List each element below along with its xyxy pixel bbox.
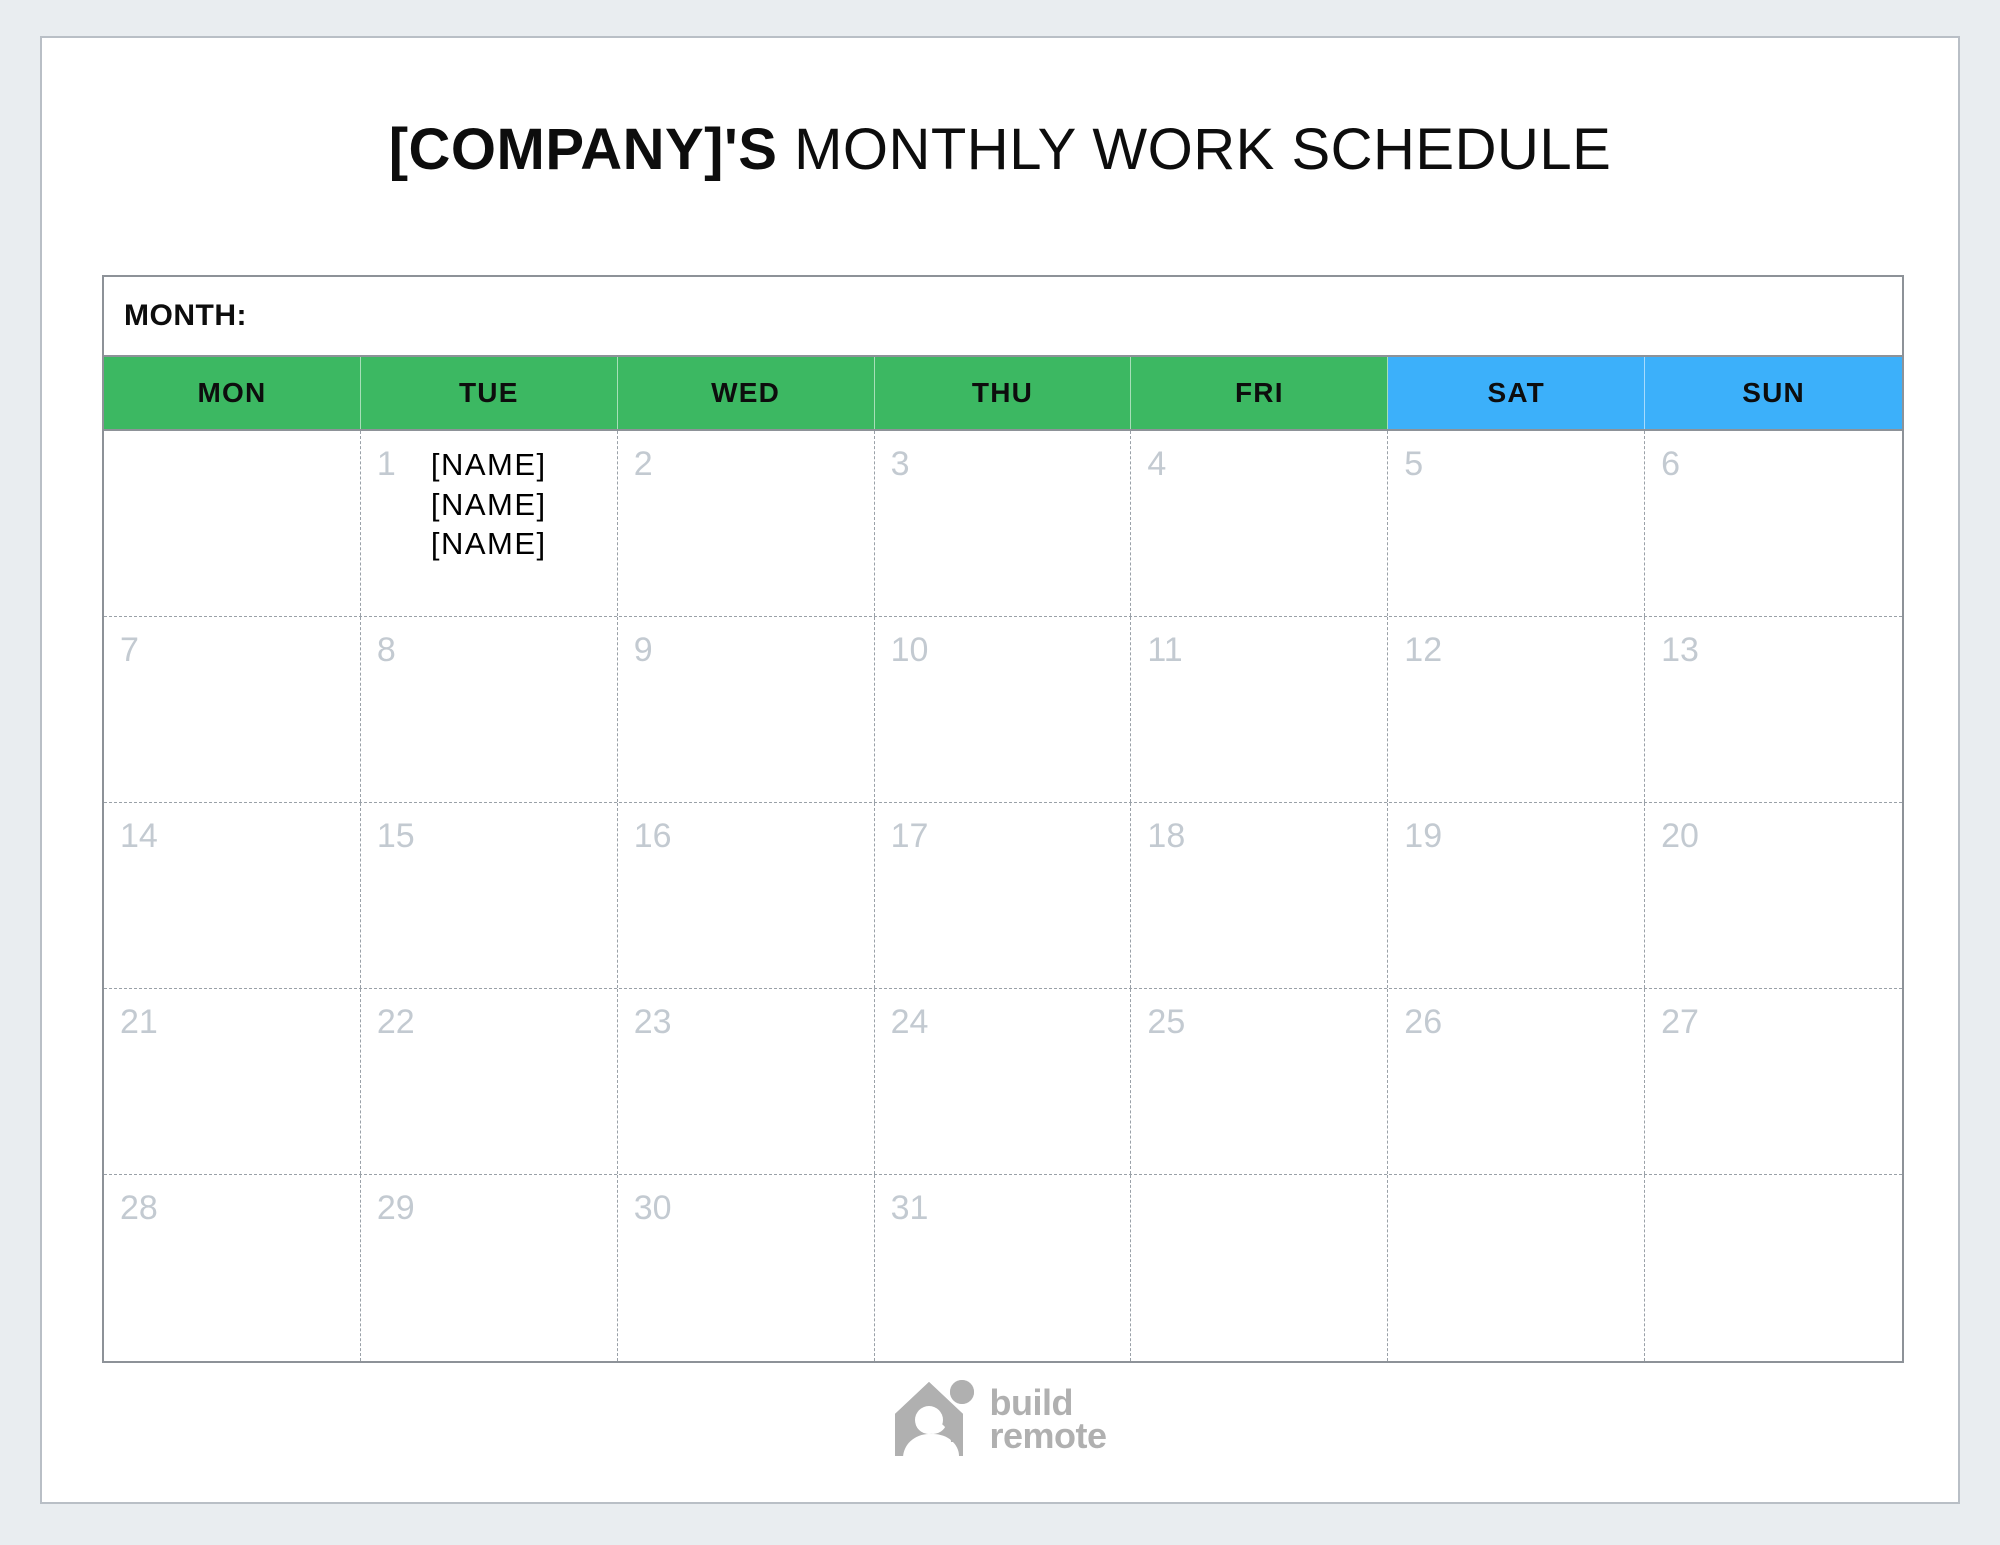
calendar-day-cell[interactable]: 5 xyxy=(1388,431,1645,616)
day-number: 7 xyxy=(120,631,150,669)
day-number: 14 xyxy=(120,817,158,855)
calendar-day-cell[interactable]: 14 xyxy=(104,803,361,988)
calendar-day-cell[interactable]: 17 xyxy=(875,803,1132,988)
day-number: 20 xyxy=(1661,817,1699,855)
day-number: 16 xyxy=(634,817,672,855)
buildremote-logo: build remote xyxy=(42,1380,1958,1458)
calendar-day-cell[interactable]: 25 xyxy=(1131,989,1388,1174)
day-header-label: THU xyxy=(972,377,1033,409)
day-number: 23 xyxy=(634,1003,672,1041)
day-number: 29 xyxy=(377,1189,415,1227)
month-label: MONTH: xyxy=(124,299,247,333)
page-canvas: [COMPANY]'S MONTHLY WORK SCHEDULE MONTH:… xyxy=(40,36,1960,1504)
day-number: 26 xyxy=(1404,1003,1442,1041)
day-header-sun: SUN xyxy=(1645,357,1902,429)
calendar-day-cell[interactable]: 9 xyxy=(618,617,875,802)
calendar-day-cell[interactable]: 1[NAME][NAME][NAME] xyxy=(361,431,618,616)
day-entry[interactable]: [NAME] xyxy=(431,485,547,525)
day-number: 11 xyxy=(1147,631,1182,669)
calendar-day-cell[interactable]: 18 xyxy=(1131,803,1388,988)
page-title: [COMPANY]'S MONTHLY WORK SCHEDULE xyxy=(42,120,1958,181)
calendar-day-cell[interactable]: 8 xyxy=(361,617,618,802)
day-header-mon: MON xyxy=(104,357,361,429)
page-title-company: [COMPANY]'S xyxy=(389,117,778,182)
calendar-day-cell[interactable]: 28 xyxy=(104,1175,361,1361)
day-number: 25 xyxy=(1147,1003,1185,1041)
day-header-label: SUN xyxy=(1742,377,1805,409)
calendar-day-cell[interactable] xyxy=(104,431,361,616)
calendar-day-cell[interactable]: 3 xyxy=(875,431,1132,616)
calendar-day-cell[interactable]: 10 xyxy=(875,617,1132,802)
calendar-body: 1[NAME][NAME][NAME]234567891011121314151… xyxy=(104,431,1902,1361)
house-person-icon xyxy=(893,1380,979,1458)
day-header-label: FRI xyxy=(1235,377,1284,409)
calendar-day-cell[interactable]: 15 xyxy=(361,803,618,988)
calendar-day-cell[interactable]: 31 xyxy=(875,1175,1132,1361)
day-header-fri: FRI xyxy=(1131,357,1388,429)
month-bar[interactable]: MONTH: xyxy=(104,277,1902,357)
day-number: 22 xyxy=(377,1003,415,1041)
day-entry[interactable]: [NAME] xyxy=(431,524,547,564)
calendar-day-cell[interactable]: 20 xyxy=(1645,803,1902,988)
calendar-day-cell[interactable]: 21 xyxy=(104,989,361,1174)
day-of-week-header-row: MONTUEWEDTHUFRISATSUN xyxy=(104,357,1902,431)
calendar-week-row: 28293031 xyxy=(104,1175,1902,1361)
day-number: 28 xyxy=(120,1189,158,1227)
calendar-day-cell[interactable]: 13 xyxy=(1645,617,1902,802)
logo-wordmark: build remote xyxy=(989,1386,1106,1452)
day-number: 5 xyxy=(1404,445,1434,483)
calendar-day-cell[interactable]: 26 xyxy=(1388,989,1645,1174)
calendar-week-row: 78910111213 xyxy=(104,617,1902,803)
calendar-day-cell[interactable]: 30 xyxy=(618,1175,875,1361)
calendar-day-cell[interactable]: 7 xyxy=(104,617,361,802)
day-number: 10 xyxy=(891,631,929,669)
calendar-day-cell[interactable]: 16 xyxy=(618,803,875,988)
day-number: 9 xyxy=(634,631,664,669)
day-header-sat: SAT xyxy=(1388,357,1645,429)
day-number: 8 xyxy=(377,631,407,669)
day-number: 24 xyxy=(891,1003,929,1041)
calendar-day-cell[interactable]: 11 xyxy=(1131,617,1388,802)
day-entry[interactable]: [NAME] xyxy=(431,445,547,485)
calendar-week-row: 1[NAME][NAME][NAME]23456 xyxy=(104,431,1902,617)
day-number: 17 xyxy=(891,817,929,855)
calendar-day-cell[interactable]: 2 xyxy=(618,431,875,616)
day-number: 31 xyxy=(891,1189,929,1227)
day-header-tue: TUE xyxy=(361,357,618,429)
day-number: 12 xyxy=(1404,631,1442,669)
day-header-label: SAT xyxy=(1487,377,1545,409)
day-number: 21 xyxy=(120,1003,158,1041)
day-number: 27 xyxy=(1661,1003,1699,1041)
day-number: 2 xyxy=(634,445,664,483)
calendar-week-row: 14151617181920 xyxy=(104,803,1902,989)
day-number: 19 xyxy=(1404,817,1442,855)
calendar-day-cell[interactable] xyxy=(1645,1175,1902,1361)
calendar-week-row: 21222324252627 xyxy=(104,989,1902,1175)
day-number: 18 xyxy=(1147,817,1185,855)
calendar-day-cell[interactable]: 29 xyxy=(361,1175,618,1361)
calendar-table: MONTH: MONTUEWEDTHUFRISATSUN 1[NAME][NAM… xyxy=(102,275,1904,1363)
day-number: 30 xyxy=(634,1189,672,1227)
day-number: 13 xyxy=(1661,631,1699,669)
day-header-thu: THU xyxy=(875,357,1132,429)
page-title-rest: MONTHLY WORK SCHEDULE xyxy=(777,117,1611,182)
logo-text-remote: remote xyxy=(989,1419,1106,1452)
calendar-day-cell[interactable]: 23 xyxy=(618,989,875,1174)
calendar-day-cell[interactable]: 6 xyxy=(1645,431,1902,616)
calendar-day-cell[interactable]: 19 xyxy=(1388,803,1645,988)
calendar-day-cell[interactable]: 27 xyxy=(1645,989,1902,1174)
day-entries: [NAME][NAME][NAME] xyxy=(431,445,547,564)
day-header-wed: WED xyxy=(618,357,875,429)
calendar-day-cell[interactable]: 24 xyxy=(875,989,1132,1174)
calendar-day-cell[interactable]: 12 xyxy=(1388,617,1645,802)
calendar-day-cell[interactable] xyxy=(1388,1175,1645,1361)
day-number: 3 xyxy=(891,445,921,483)
calendar-day-cell[interactable]: 4 xyxy=(1131,431,1388,616)
calendar-day-cell[interactable] xyxy=(1131,1175,1388,1361)
day-number: 15 xyxy=(377,817,415,855)
calendar-day-cell[interactable]: 22 xyxy=(361,989,618,1174)
day-header-label: MON xyxy=(197,377,266,409)
day-header-label: WED xyxy=(711,377,780,409)
day-header-label: TUE xyxy=(459,377,519,409)
day-number: 4 xyxy=(1147,445,1177,483)
day-number: 1 xyxy=(377,445,407,483)
day-number: 6 xyxy=(1661,445,1691,483)
